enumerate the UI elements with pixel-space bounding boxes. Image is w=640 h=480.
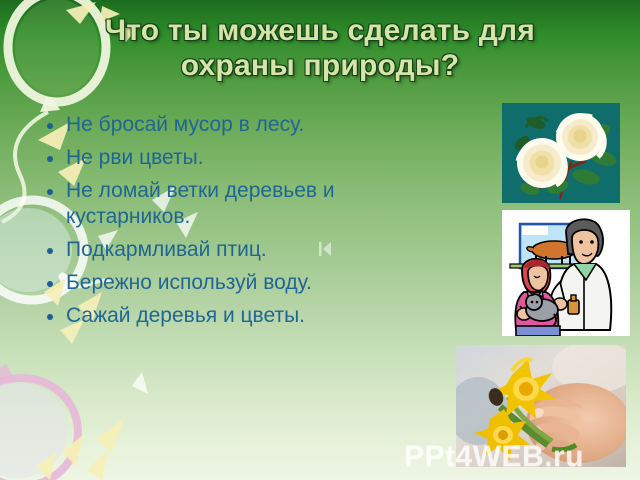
list-item: Не рви цветы.: [40, 145, 460, 171]
skip-to-start-icon[interactable]: [318, 241, 332, 257]
list-item: Сажай деревья и цветы.: [40, 303, 460, 329]
presentation-slide: Что ты можешь сделать для охраны природы…: [0, 0, 640, 480]
bullet-list: Не бросай мусор в лесу. Не рви цветы. Не…: [40, 112, 460, 336]
balloon-bottom-left-icon: [0, 364, 78, 480]
list-item: Не ломай ветки деревьев и кустарников.: [40, 178, 460, 230]
image-veterinarian: [502, 210, 630, 336]
slide-title: Что ты можешь сделать для охраны природы…: [40, 14, 600, 84]
image-roses: [502, 103, 620, 203]
watermark: PPt4WEB.ru: [404, 440, 584, 474]
list-item: Бережно используй воду.: [40, 270, 460, 296]
list-item: Подкармливай птиц.: [40, 237, 460, 263]
list-item: Не бросай мусор в лесу.: [40, 112, 460, 138]
